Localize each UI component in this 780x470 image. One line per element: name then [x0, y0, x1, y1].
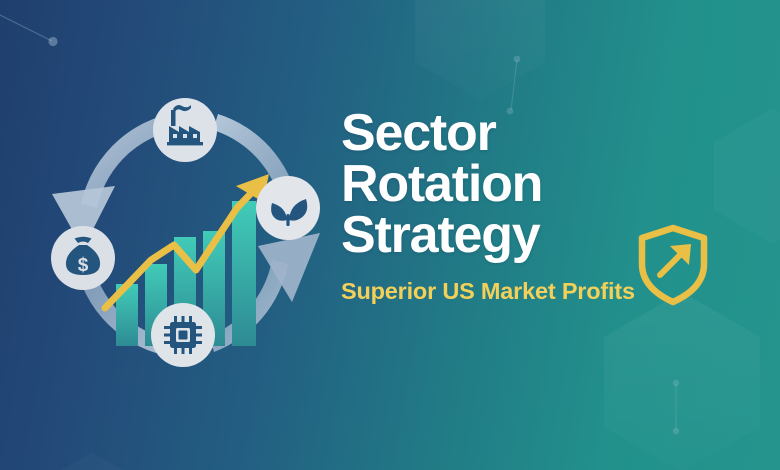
sector-rotation-banner: $ Sector Rotation Strategy Superior US M… — [0, 0, 780, 470]
sector-rotation-cycle-graphic: $ — [36, 78, 336, 388]
title-line-1: Sector — [341, 108, 741, 159]
bar-5 — [232, 201, 256, 346]
svg-text:$: $ — [78, 255, 89, 276]
sector-icon-money-bag: $ — [51, 226, 115, 290]
hexagon-decoration-bottom-left — [34, 452, 150, 470]
sector-icon-leaf — [256, 176, 320, 240]
title-line-2: Rotation — [341, 159, 741, 210]
sector-icon-factory — [153, 98, 217, 162]
hexagon-decoration-top — [415, 0, 545, 100]
shield-growth-arrow-icon — [637, 224, 709, 306]
sector-icon-cpu — [151, 303, 215, 367]
hexagon-decoration-bottom-right — [604, 292, 760, 470]
